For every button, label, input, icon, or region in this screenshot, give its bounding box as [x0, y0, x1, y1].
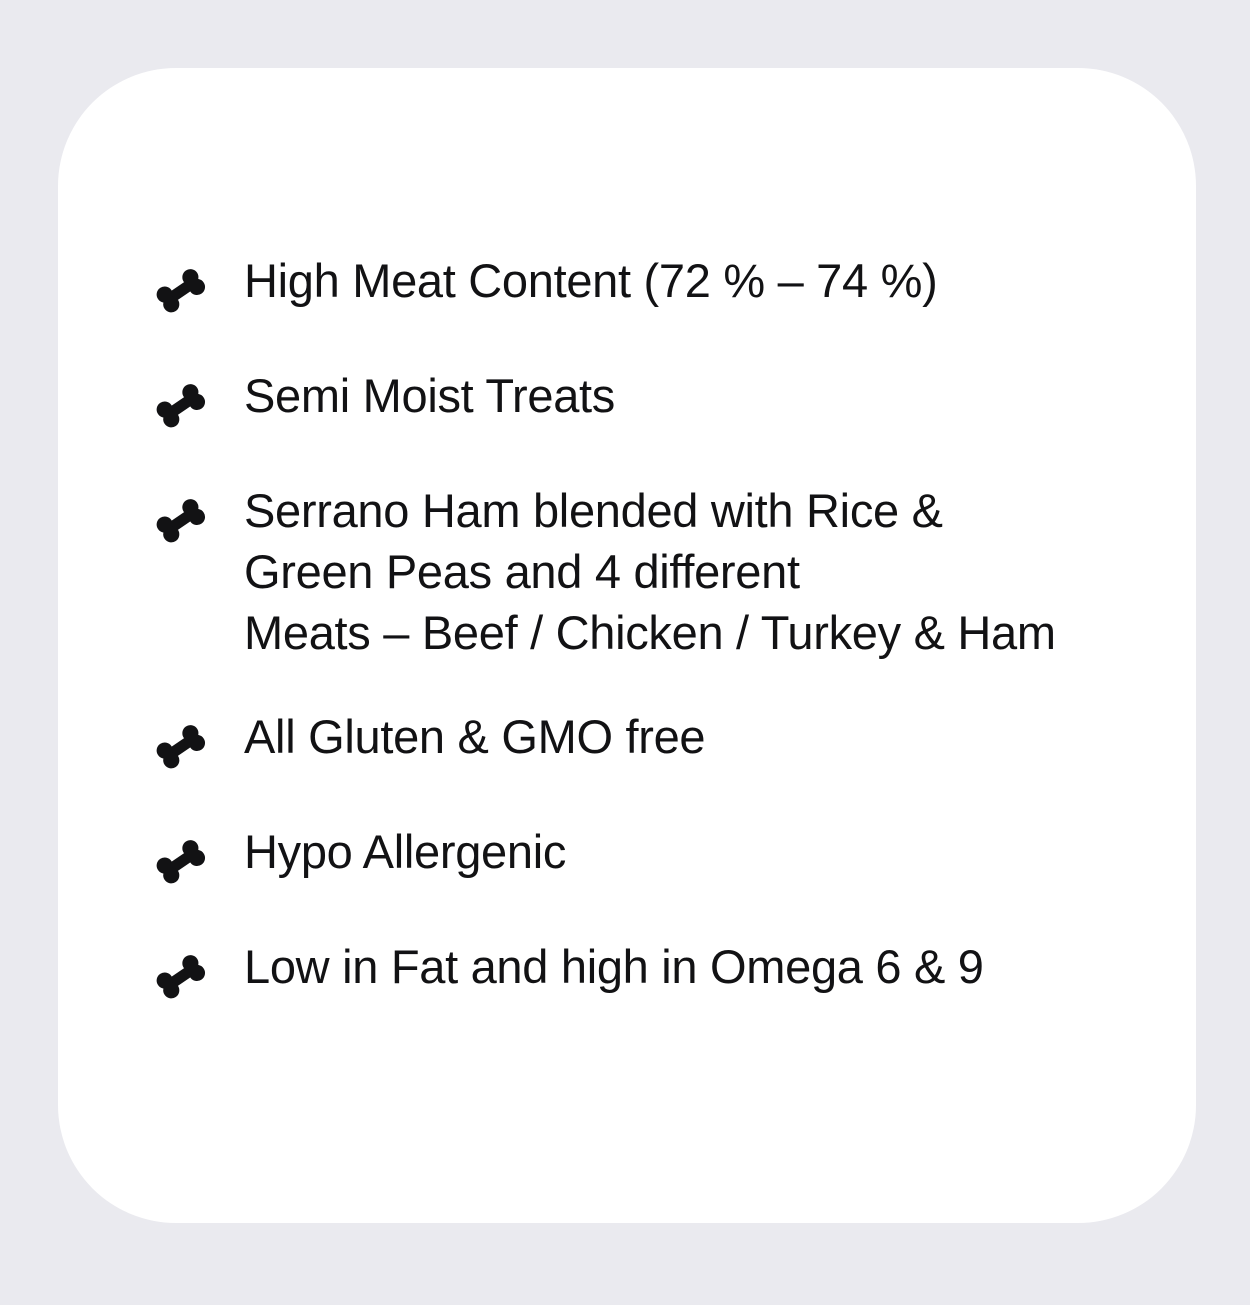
bone-icon — [150, 260, 212, 322]
feature-label: Serrano Ham blended with Rice & Green Pe… — [244, 478, 1150, 663]
bone-icon — [150, 946, 212, 1008]
feature-card: High Meat Content (72 % – 74 %) Semi — [58, 68, 1196, 1223]
feature-label: Semi Moist Treats — [244, 363, 1150, 426]
list-item: Semi Moist Treats — [150, 363, 1150, 437]
list-item: Serrano Ham blended with Rice & Green Pe… — [150, 478, 1150, 663]
bone-icon — [150, 375, 212, 437]
feature-label: High Meat Content (72 % – 74 %) — [244, 248, 1150, 311]
page-root: High Meat Content (72 % – 74 %) Semi — [0, 0, 1250, 1305]
feature-label: Hypo Allergenic — [244, 819, 1150, 882]
bone-icon — [150, 831, 212, 893]
bone-icon — [150, 716, 212, 778]
feature-label: All Gluten & GMO free — [244, 704, 1150, 767]
list-item: Hypo Allergenic — [150, 819, 1150, 893]
list-item: All Gluten & GMO free — [150, 704, 1150, 778]
feature-label: Low in Fat and high in Omega 6 & 9 — [244, 934, 1150, 997]
bone-icon — [150, 490, 212, 552]
list-item: Low in Fat and high in Omega 6 & 9 — [150, 934, 1150, 1008]
feature-list: High Meat Content (72 % – 74 %) Semi — [150, 248, 1150, 1008]
list-item: High Meat Content (72 % – 74 %) — [150, 248, 1150, 322]
